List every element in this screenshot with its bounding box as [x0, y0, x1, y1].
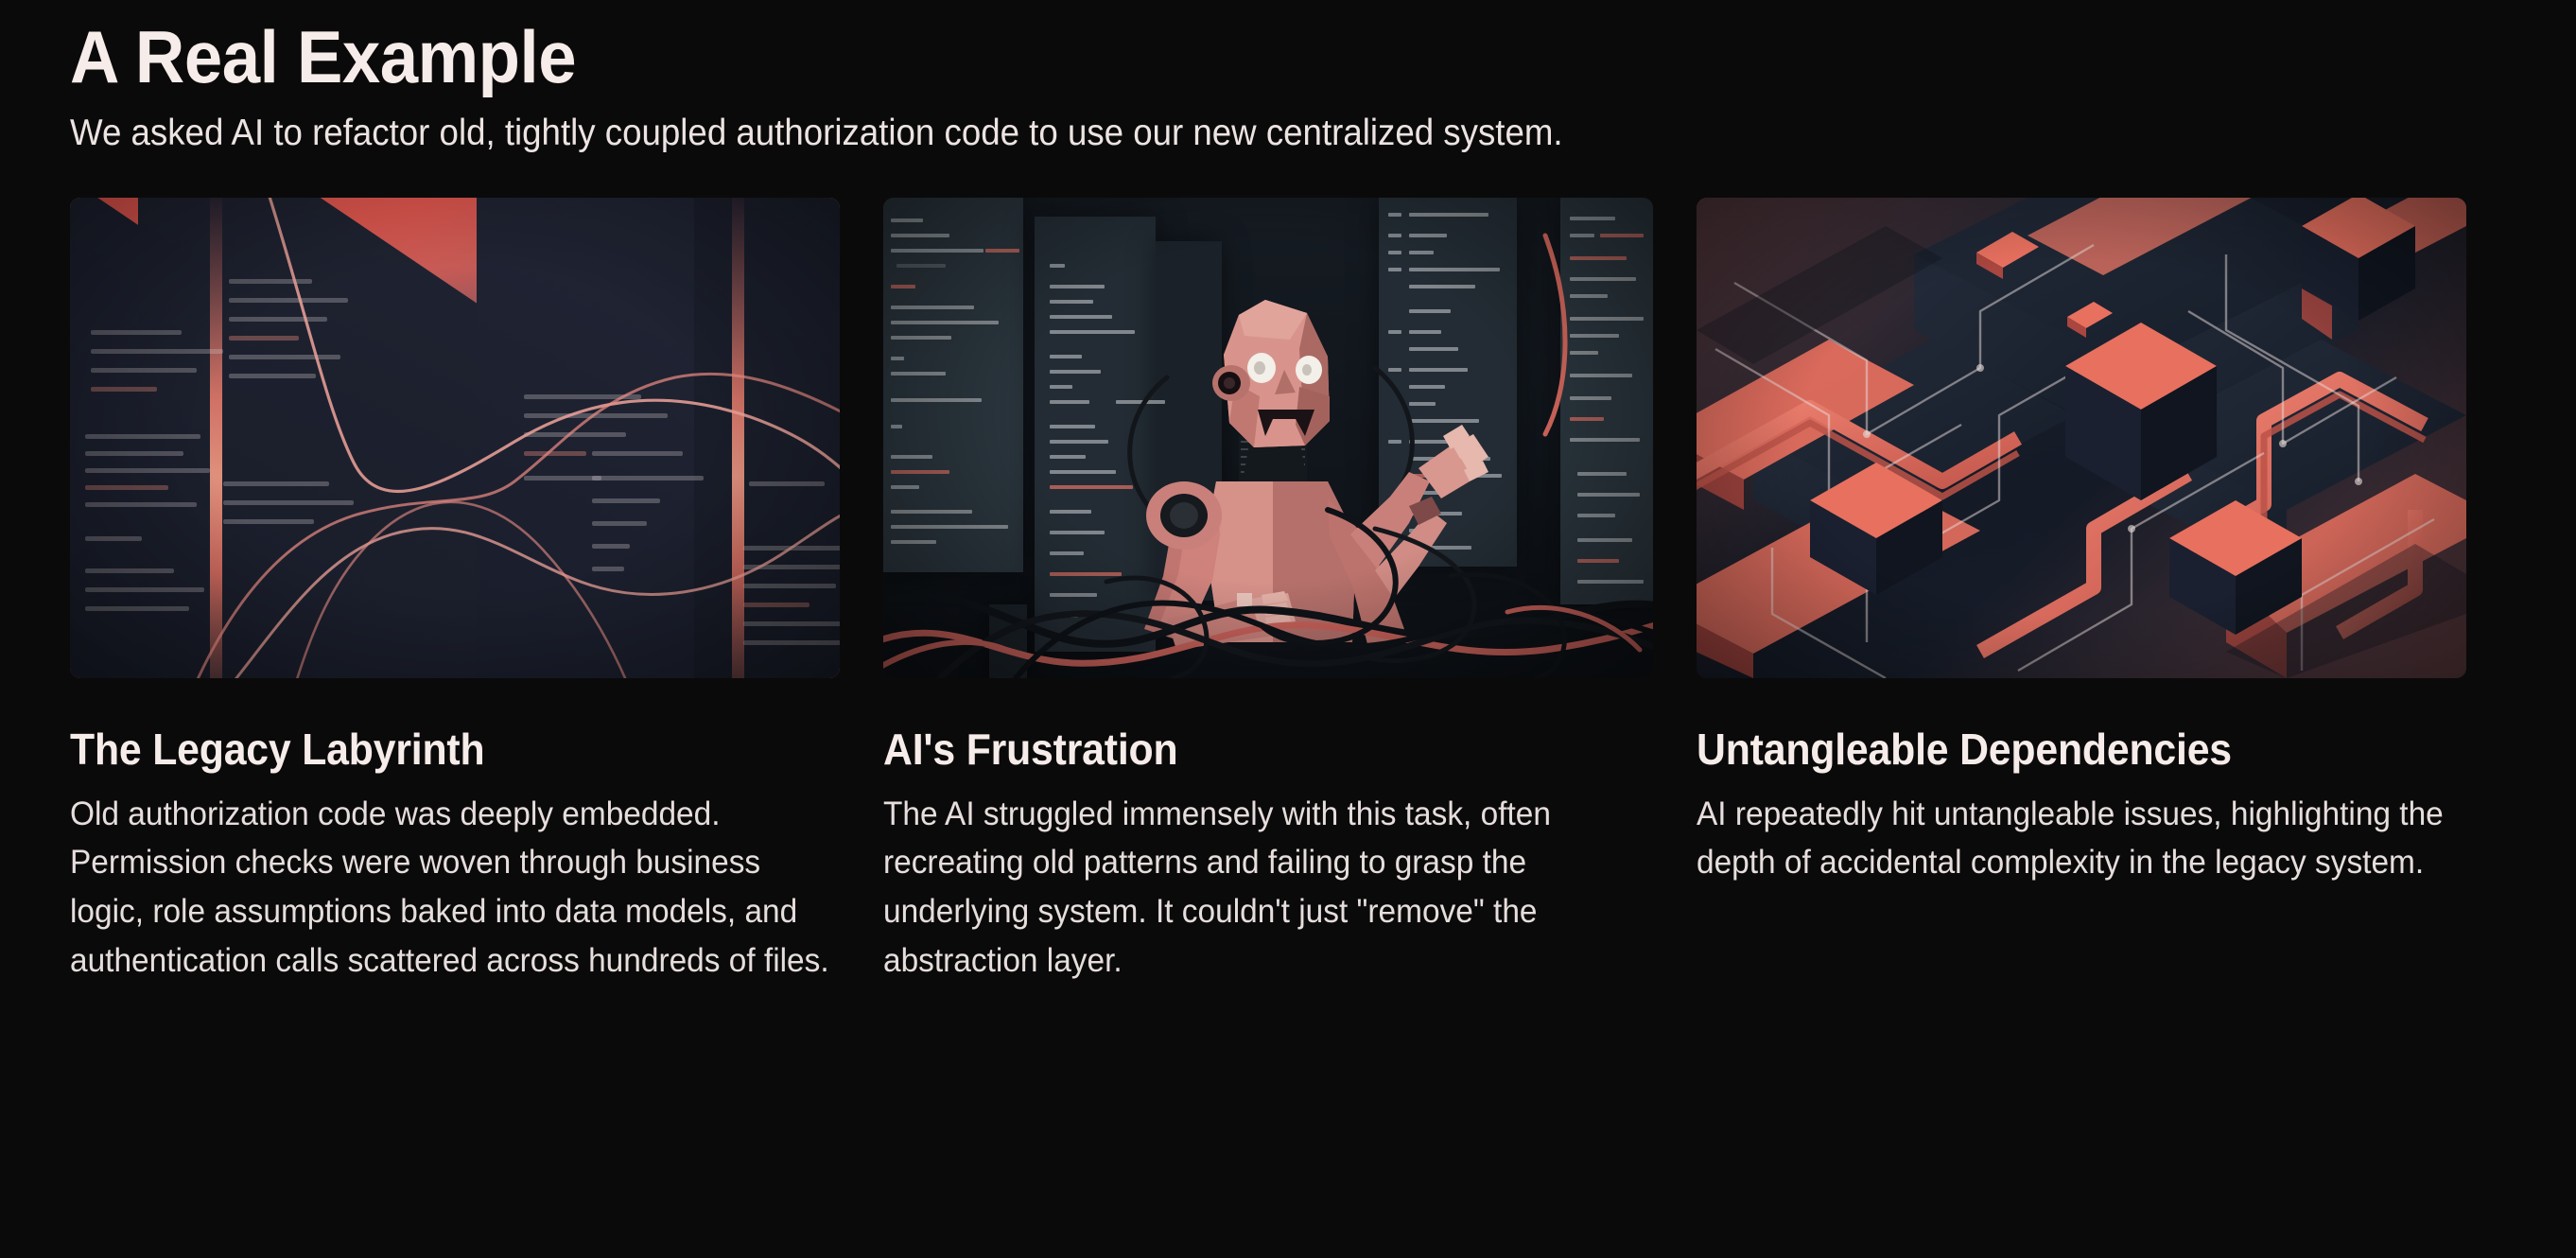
card-title: Untangleable Dependencies [1697, 725, 2412, 775]
card-body: The AI struggled immensely with this tas… [883, 790, 1653, 986]
cable-tangle-front [883, 198, 1653, 678]
card-grid: The Legacy Labyrinth Old authorization c… [70, 198, 2506, 986]
ai-frustration-illustration [883, 198, 1653, 678]
flow-curves [70, 198, 840, 678]
card-legacy-labyrinth[interactable]: The Legacy Labyrinth Old authorization c… [70, 198, 840, 986]
card-body: AI repeatedly hit untangleable issues, h… [1697, 790, 2466, 888]
card-title: The Legacy Labyrinth [70, 725, 786, 775]
legacy-labyrinth-illustration [70, 198, 840, 678]
page-subtitle: We asked AI to refactor old, tightly cou… [70, 112, 2359, 156]
dependencies-illustration [1697, 198, 2466, 678]
card-untangleable-dependencies[interactable]: Untangleable Dependencies AI repeatedly … [1697, 198, 2466, 986]
card-title: AI's Frustration [883, 725, 1599, 775]
card-ai-frustration[interactable]: AI's Frustration The AI struggled immens… [883, 198, 1653, 986]
card-body: Old authorization code was deeply embedd… [70, 790, 840, 986]
page-title: A Real Example [70, 17, 2336, 96]
isometric-maze [1697, 198, 2466, 678]
slide-root: A Real Example We asked AI to refactor o… [0, 0, 2576, 1258]
slide-header: A Real Example We asked AI to refactor o… [70, 0, 2506, 156]
